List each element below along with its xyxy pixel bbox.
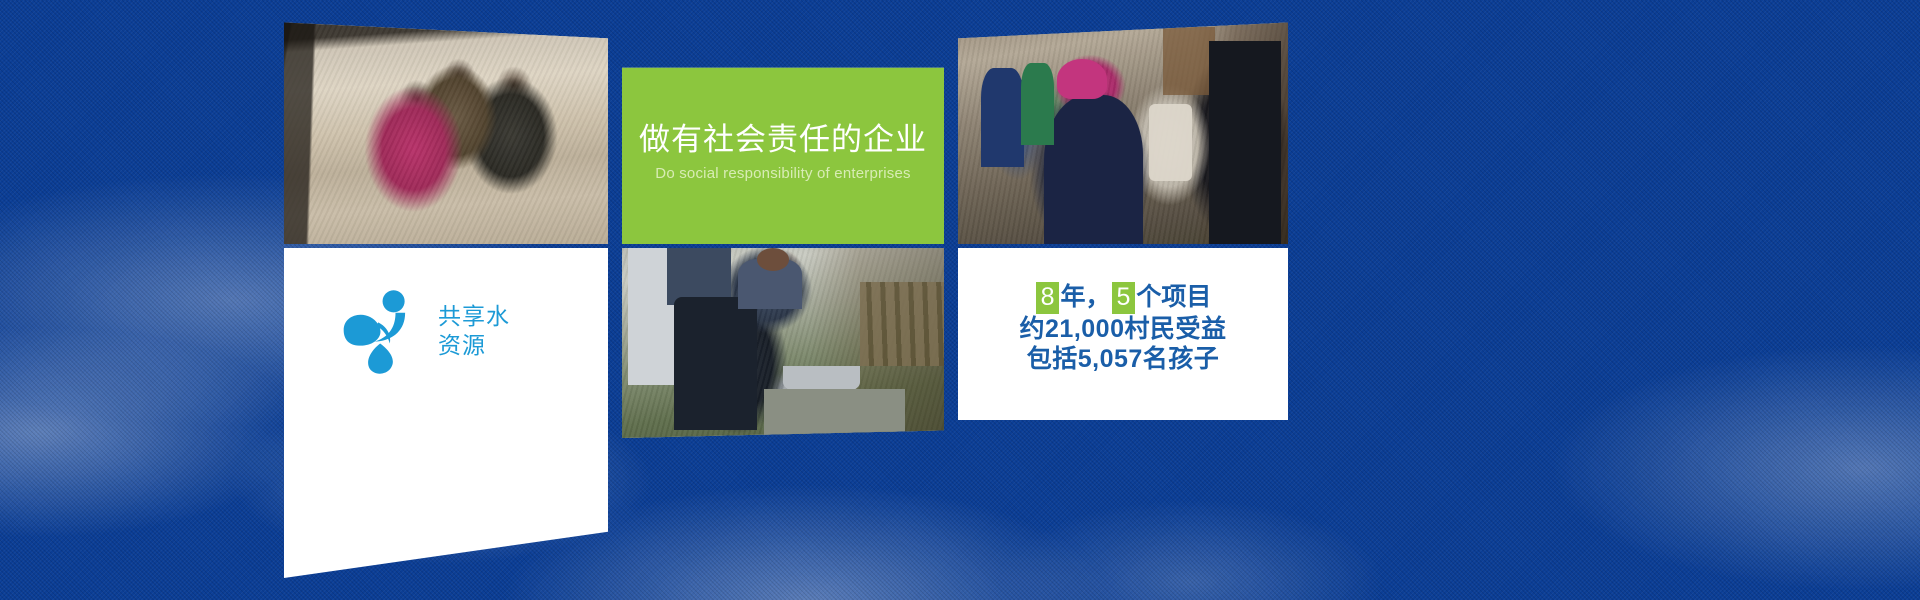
- brand-logo: 共享水 资源: [336, 284, 510, 380]
- photo-detail: [1057, 59, 1107, 100]
- csr-banner: 做有社会责任的企业 Do social responsibility of en…: [0, 0, 1920, 600]
- stats-line-2: 约21,000村民受益: [958, 314, 1288, 345]
- green-message-panel: 做有社会责任的企业 Do social responsibility of en…: [622, 18, 944, 244]
- children-washing-at-water-source-photo: [284, 18, 608, 244]
- green-message-text: 做有社会责任的企业 Do social responsibility of en…: [622, 123, 944, 186]
- banner-subtitle: Do social responsibility of enterprises: [632, 163, 934, 186]
- photo-top-right: [958, 18, 1288, 244]
- stats-projects-unit: 个项目: [1136, 283, 1211, 311]
- photo-detail: [757, 248, 789, 271]
- water-droplet-figure-icon: [336, 284, 432, 380]
- photo-detail: [1044, 95, 1143, 244]
- photo-detail: [764, 389, 906, 438]
- photo-detail: [284, 18, 312, 99]
- stats-projects-value: 5: [1112, 282, 1136, 314]
- brand-logo-line2: 资源: [438, 332, 510, 361]
- photo-detail: [1163, 27, 1216, 95]
- banner-title: 做有社会责任的企业: [632, 123, 934, 157]
- photo-top-left: [284, 18, 608, 244]
- photo-detail: [860, 282, 944, 366]
- stats-years-value: 8: [1036, 282, 1060, 314]
- photo-panel-villagers-supplies: [958, 18, 1288, 244]
- stats-panel: 8年，5个项目 约21,000村民受益 包括5,057名孩子: [958, 248, 1288, 420]
- photo-detail: [674, 297, 758, 430]
- photo-detail: [981, 68, 1024, 167]
- brand-logo-text: 共享水 资源: [438, 303, 510, 361]
- panel-grid: 做有社会责任的企业 Do social responsibility of en…: [284, 0, 1288, 600]
- logo-panel: 共享水 资源: [284, 248, 608, 578]
- stats-line-3: 包括5,057名孩子: [958, 344, 1288, 375]
- stats-years-unit: 年，: [1060, 283, 1110, 311]
- photo-detail: [1209, 41, 1282, 244]
- photo-detail: [284, 99, 305, 167]
- stats-line-1: 8年，5个项目: [958, 282, 1288, 314]
- photo-bottom-middle: [622, 248, 944, 438]
- brand-logo-line1: 共享水: [438, 303, 510, 332]
- photo-panel-spigot: [622, 248, 944, 438]
- impact-stats: 8年，5个项目 约21,000村民受益 包括5,057名孩子: [958, 282, 1288, 375]
- photo-detail: [1149, 104, 1192, 181]
- photo-detail: [1021, 63, 1054, 144]
- photo-panel-children-water: [284, 18, 608, 244]
